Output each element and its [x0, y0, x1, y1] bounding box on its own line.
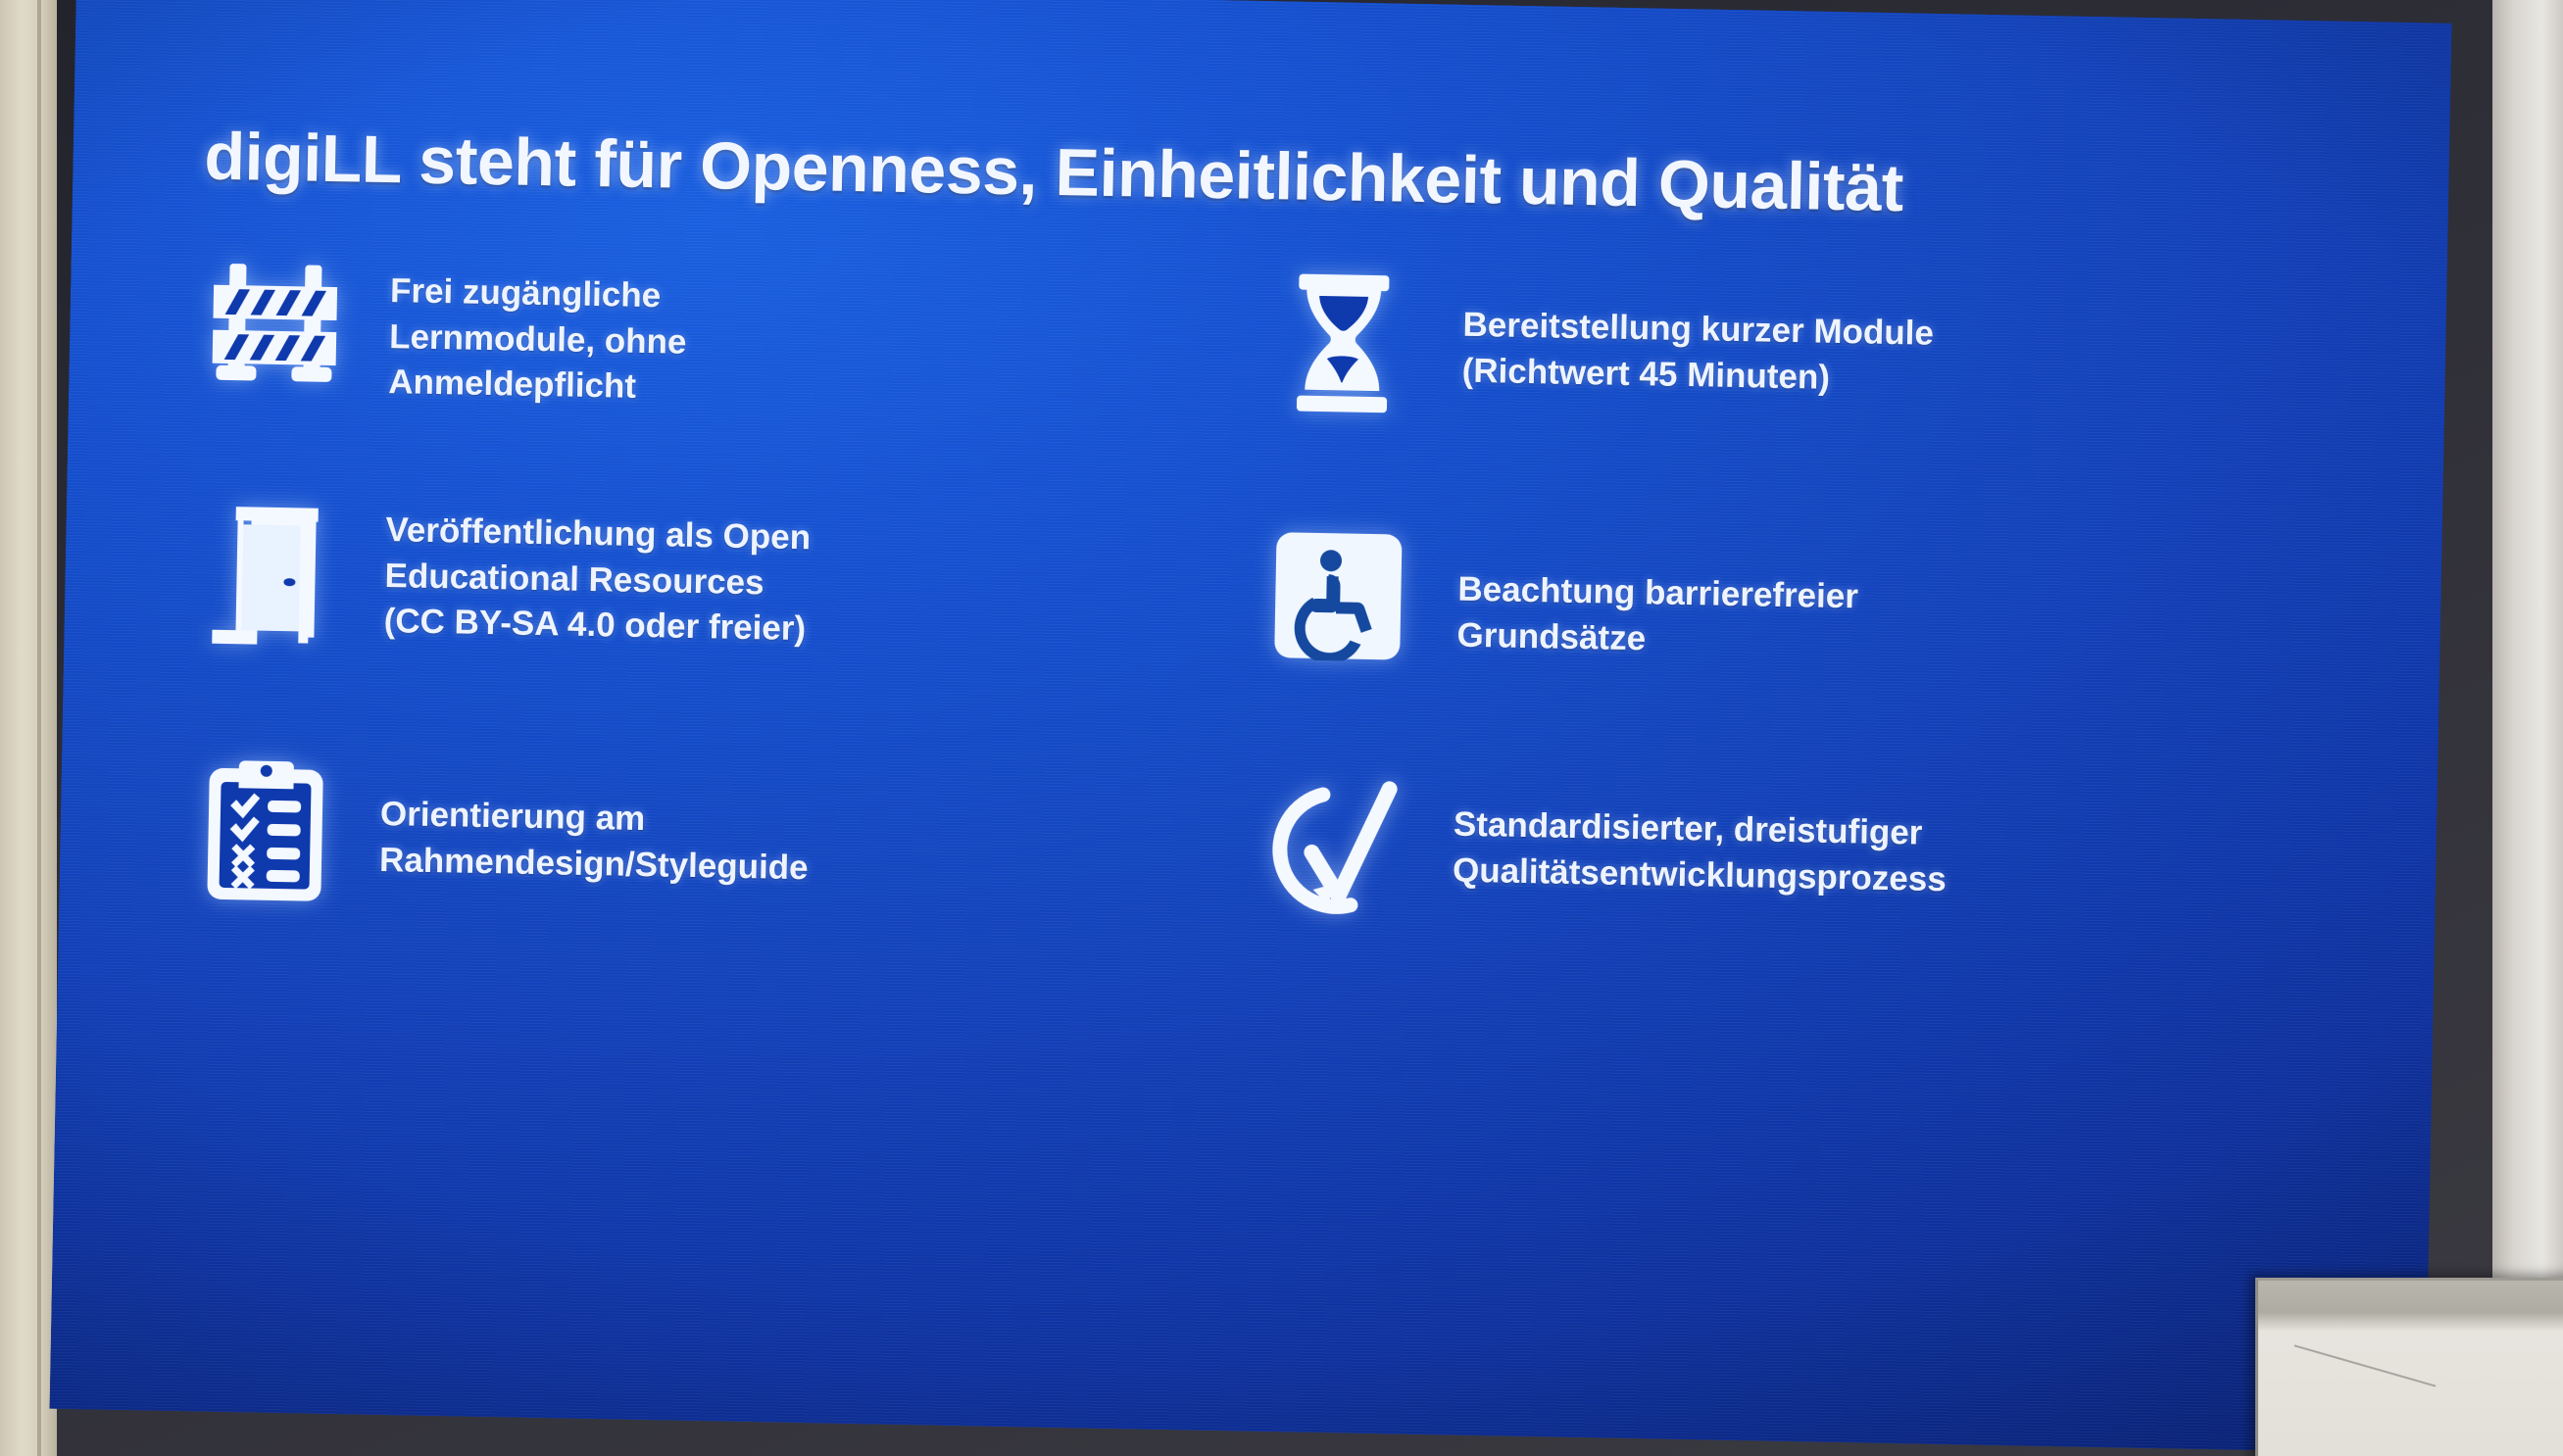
feature-item-oer-license: Veröffentlichung als Open Educational Re…	[193, 496, 1261, 768]
slide-title: digiLL steht für Openness, Einheitlichke…	[204, 119, 1904, 227]
projected-slide-area: digiLL steht für Openness, Einheitlichke…	[49, 0, 2451, 1453]
wall-seam	[37, 0, 41, 1456]
feature-item-label: Veröffentlichung als Open Educational Re…	[383, 500, 811, 653]
feature-grid: Frei zugängliche Lernmodule, ohne Anmeld…	[188, 243, 2329, 1042]
feature-item-short-modules: Bereitstellung kurzer Module (Richtwert …	[1261, 264, 2330, 536]
feature-item-label: Beachtung barrierefreier Grundsätze	[1456, 520, 1859, 666]
lecture-room-photo: digiLL steht für Openness, Einheitlichke…	[0, 0, 2563, 1456]
feature-item-quality-process: Standardisierter, dreistufiger Qualitäts…	[1252, 769, 2320, 1042]
flipchart-crease	[2294, 1344, 2437, 1386]
hourglass-icon	[1263, 264, 1423, 423]
flipchart-board	[2255, 1278, 2563, 1456]
left-wall	[0, 0, 57, 1456]
feature-item-label: Orientierung am Rahmendesign/Styleguide	[379, 752, 811, 891]
feature-item-open-access: Frei zugängliche Lernmodule, ohne Anmeld…	[198, 243, 1266, 515]
feature-item-label: Standardisierter, dreistufiger Qualitäts…	[1453, 773, 1948, 903]
feature-item-accessibility: Beachtung barrierefreier Grundsätze	[1257, 516, 2325, 789]
cycle-check-icon	[1254, 769, 1413, 929]
flipchart-foreground	[2240, 1260, 2563, 1456]
feature-item-label: Bereitstellung kurzer Module (Richtwert …	[1461, 267, 1935, 403]
open-door-icon	[195, 496, 345, 655]
wheelchair-accessibility-icon	[1258, 516, 1418, 676]
right-wall	[2492, 0, 2563, 1456]
feature-item-styleguide: Orientierung am Rahmendesign/Styleguide	[188, 749, 1257, 1021]
feature-item-label: Frei zugängliche Lernmodule, ohne Anmeld…	[388, 247, 688, 411]
clipboard-checklist-icon	[190, 749, 340, 908]
road-barrier-icon	[200, 243, 350, 403]
slide-content: digiLL steht für Openness, Einheitlichke…	[49, 0, 2451, 1453]
